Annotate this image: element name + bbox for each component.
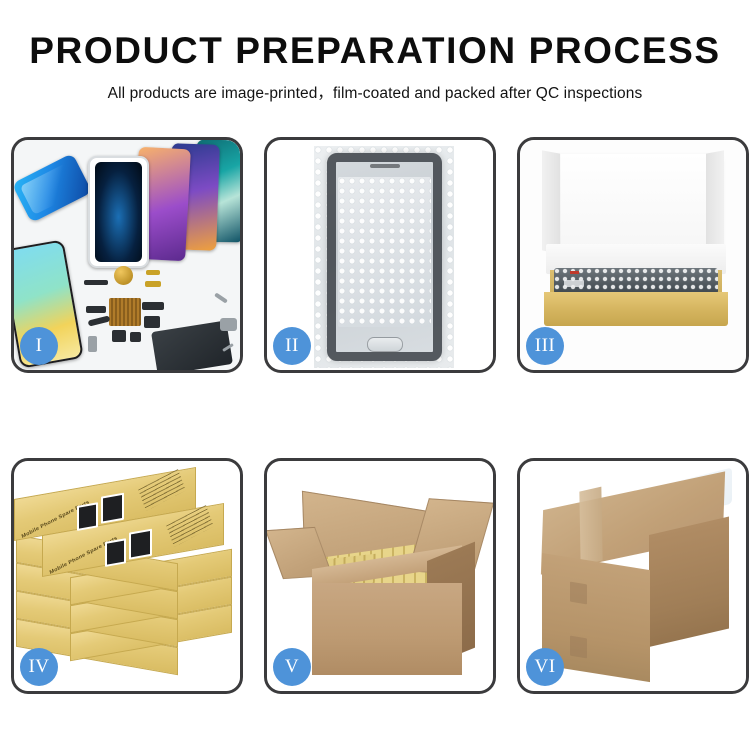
part-connector-a: [86, 306, 106, 313]
part-button-set: [112, 330, 126, 342]
box-artwork-screen-a1: [77, 502, 98, 531]
step-panel-2: II: [264, 137, 496, 373]
page-title: PRODUCT PREPARATION PROCESS: [0, 32, 750, 71]
carton-hand-hole-upper: [570, 582, 587, 605]
part-camera-module: [144, 316, 160, 328]
carton-front-face: [312, 583, 462, 675]
carton-hand-hole-lower: [570, 636, 587, 659]
part-vibration-motor: [114, 266, 133, 285]
part-speaker-mesh: [84, 280, 108, 285]
wrapped-phone-screen: [327, 153, 442, 361]
part-circuit-board: [109, 298, 141, 326]
page-subtitle: All products are image-printed，film-coat…: [0, 81, 750, 103]
step-panel-5: V: [264, 458, 496, 694]
process-steps-grid: I II III: [11, 137, 740, 694]
page-header: PRODUCT PREPARATION PROCESS All products…: [0, 0, 750, 103]
step-badge-4: IV: [20, 648, 58, 686]
box-artwork-screen-b1: [101, 493, 124, 524]
box-lid-left: [542, 150, 560, 253]
step-badge-2: II: [273, 327, 311, 365]
part-tool-head: [220, 318, 237, 331]
step-panel-1: I: [11, 137, 243, 373]
part-sim-tray: [88, 336, 97, 352]
box-artwork-screen-a2: [105, 538, 126, 567]
step-badge-1: I: [20, 327, 58, 365]
phone-front-glass: [88, 156, 149, 268]
step-badge-3: III: [526, 327, 564, 365]
step-panel-6: VI: [517, 458, 749, 694]
step-badge-6: VI: [526, 648, 564, 686]
box-spec-lines-1: [138, 469, 186, 511]
kraft-box-front: [544, 292, 728, 326]
box-artwork-screen-b2: [129, 529, 152, 560]
packing-tape-strip: [579, 487, 602, 566]
part-flex-gold-b: [145, 281, 161, 287]
part-taptic-engine: [130, 332, 141, 342]
sealed-carton-right-face: [649, 517, 729, 647]
part-flex-gold-a: [146, 270, 160, 275]
step-panel-3: III: [517, 137, 749, 373]
step-panel-4: Mobile Phone Spare Parts Mobile Phone Sp…: [11, 458, 243, 694]
box-lid-right: [706, 150, 724, 253]
step-badge-5: V: [273, 648, 311, 686]
part-connector-b: [142, 302, 164, 310]
wrapped-screen-in-box: [554, 268, 718, 294]
